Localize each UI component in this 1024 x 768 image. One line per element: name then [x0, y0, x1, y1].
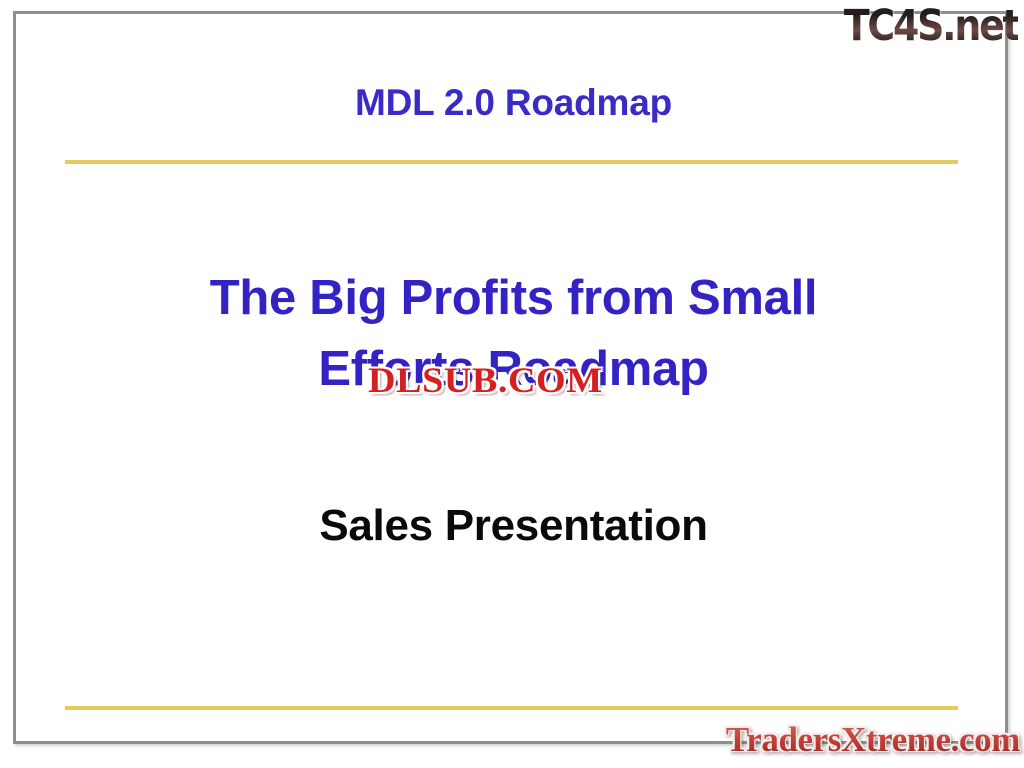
slide-canvas: MDL 2.0 Roadmap The Big Profits from Sma… — [0, 0, 1024, 768]
headline-line-1: The Big Profits from Small — [16, 263, 1011, 334]
headline: The Big Profits from Small Efforts Roadm… — [16, 263, 1011, 405]
page-title: MDL 2.0 Roadmap — [16, 82, 1011, 124]
headline-line-2: Efforts Roadmap — [16, 334, 1011, 405]
top-divider-rule — [65, 160, 958, 164]
bottom-divider-rule — [65, 706, 958, 710]
subtitle: Sales Presentation — [16, 501, 1011, 551]
slide-frame: MDL 2.0 Roadmap The Big Profits from Sma… — [13, 11, 1008, 744]
